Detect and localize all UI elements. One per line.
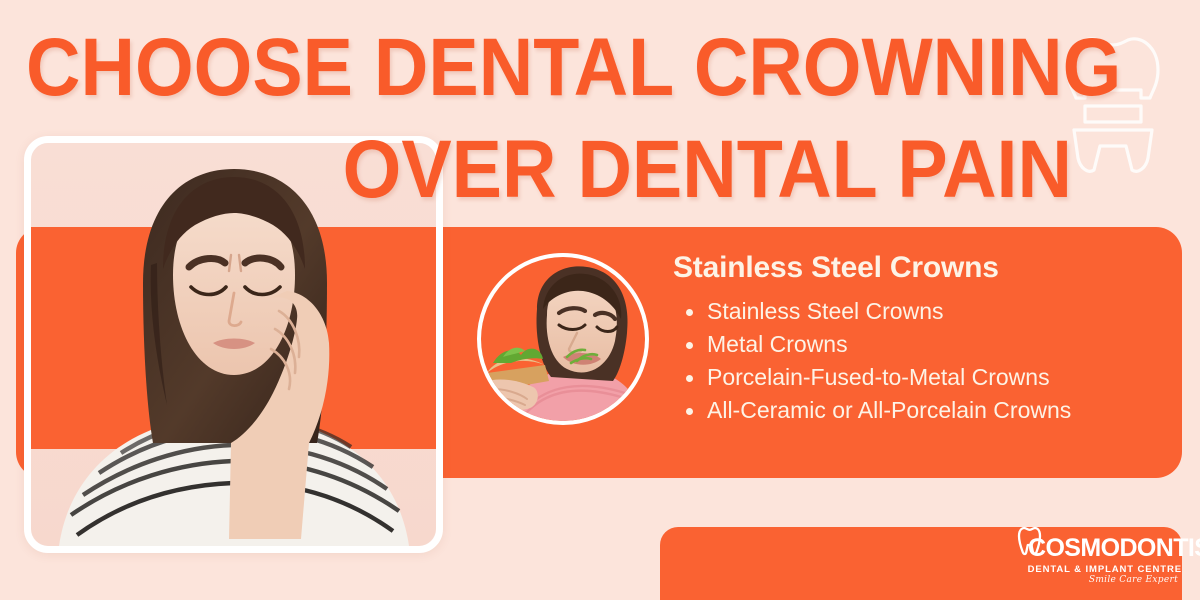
logo-tooth-icon	[1016, 526, 1042, 556]
list-item: Metal Crowns	[673, 328, 1153, 361]
eating-photo-circle	[477, 253, 649, 425]
patient-photo	[31, 143, 436, 546]
patient-photo-frame	[24, 136, 443, 553]
logo-subtitle: DENTAL & IMPLANT CENTRE	[1010, 564, 1182, 575]
logo-tagline: Smile Care Expert	[1010, 575, 1182, 586]
list-item: All-Ceramic or All-Porcelain Crowns	[673, 394, 1153, 427]
panel-heading: Stainless Steel Crowns	[673, 250, 1153, 286]
headline-line-1: Choose Dental Crowning	[26, 18, 988, 118]
cosmodontist-logo[interactable]: COSMODONTIST DENTAL & IMPLANT CENTRE Smi…	[1010, 535, 1182, 586]
tooth-crown-outline-icon	[1038, 18, 1188, 178]
list-item: Stainless Steel Crowns	[673, 295, 1153, 328]
dental-crowning-banner: Choose Dental Crowning Over Dental Pain	[0, 0, 1200, 600]
list-item: Porcelain-Fused-to-Metal Crowns	[673, 361, 1153, 394]
logo-wordmark-row: COSMODONTIST	[1010, 535, 1182, 565]
crown-types-panel: Stainless Steel Crowns Stainless Steel C…	[673, 250, 1153, 427]
crown-types-list: Stainless Steel Crowns Metal Crowns Porc…	[673, 295, 1153, 427]
